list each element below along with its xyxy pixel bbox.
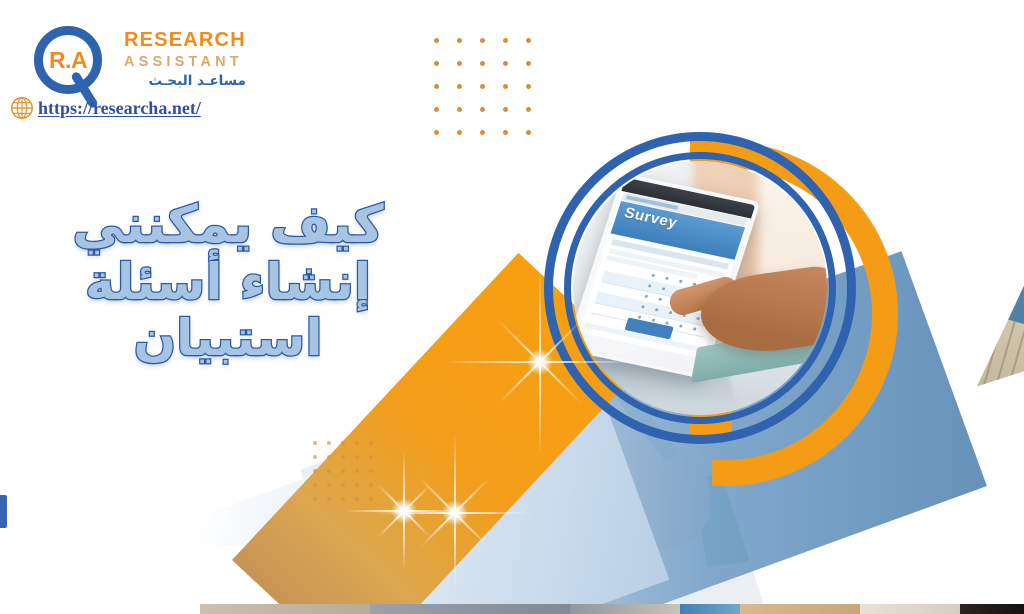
dot-grid-top — [434, 38, 532, 136]
website-url-link[interactable]: https://researcha.net/ — [10, 96, 201, 120]
logo-initials: R.A — [34, 26, 102, 94]
lens-ring-inner — [564, 152, 836, 424]
dot-grid-bottom — [313, 441, 373, 501]
headline-line-3: استبيان — [28, 310, 428, 366]
page-edge-tab[interactable] — [0, 495, 7, 528]
globe-icon — [10, 96, 34, 120]
headline-line-1: كيف يمكنني — [28, 196, 428, 254]
website-url-text[interactable]: https://researcha.net/ — [38, 98, 201, 119]
brand-name-line-2: ASSISTANT — [124, 55, 246, 70]
bottom-edge-strip — [0, 604, 1024, 614]
magnifier-lens: Survey — [540, 128, 860, 448]
brand-name-line-1: RESEARCH — [124, 30, 246, 50]
headline-line-2: إنشاء أسئلة — [28, 254, 428, 310]
brand-name-arabic: مساعـد البحـث — [124, 75, 246, 89]
banner-canvas: Survey — [0, 0, 1024, 614]
brand-wordmark: RESEARCH ASSISTANT مساعـد البحـث — [124, 30, 246, 88]
page-title: كيف يمكنني إنشاء أسئلة استبيان — [28, 196, 428, 366]
